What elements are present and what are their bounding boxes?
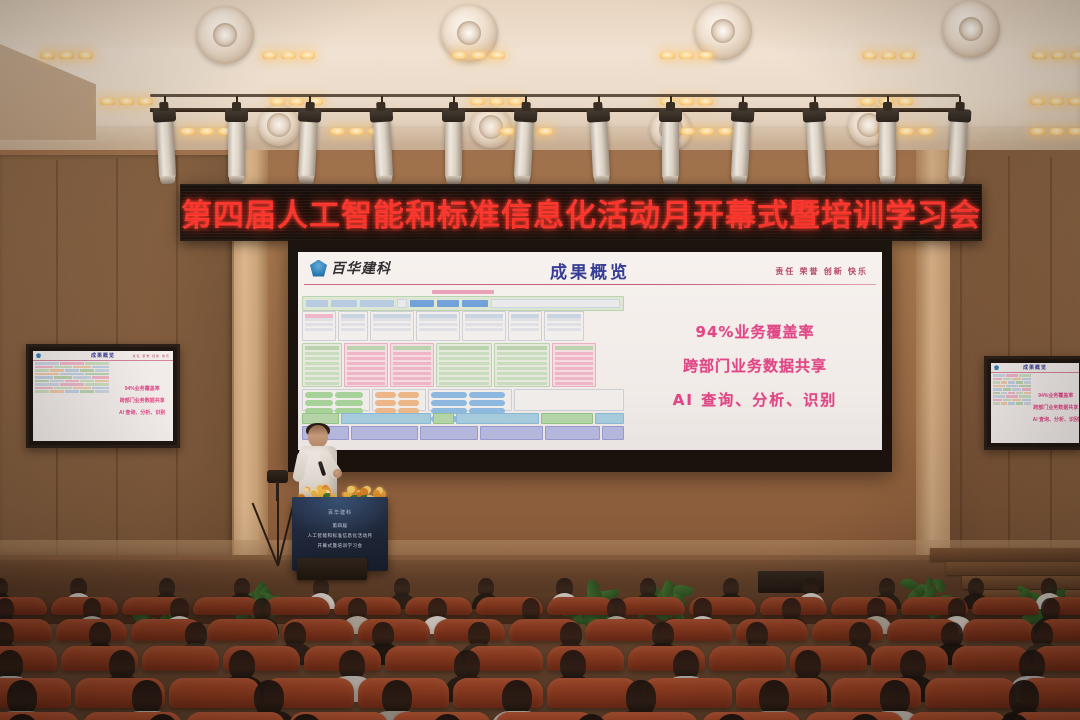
diagram-pill <box>431 400 467 406</box>
ceiling-downlight <box>1030 128 1045 135</box>
monitor-diagram-cell <box>85 383 109 386</box>
ceiling-downlight <box>679 52 694 59</box>
stage-light-lens <box>594 176 609 185</box>
diagram-column-item <box>497 367 547 370</box>
hvac-diffuser <box>942 0 1000 58</box>
monitor-diagram-cell <box>993 388 1002 391</box>
ceiling-downlight <box>1049 128 1064 135</box>
auditorium-seat <box>618 597 685 616</box>
right-monitor-highlights: 94%业务覆盖率 跨部门业务数据共享 AI 查询、分析、识别 <box>1033 372 1079 443</box>
auditorium-seat <box>186 712 285 720</box>
audience-head <box>759 680 789 715</box>
ceiling-downlight <box>1032 52 1047 59</box>
diagram-column-header <box>305 346 339 350</box>
led-banner: 第四届人工智能和标准信息化活动月开幕式暨培训学习会 <box>180 184 982 241</box>
monitor-diagram-row <box>35 383 109 386</box>
monitor-diagram-cell <box>1012 388 1021 391</box>
monitor-diagram-cell <box>1003 378 1012 381</box>
diagram-footer-band <box>420 426 478 440</box>
auditorium-seat <box>142 646 219 671</box>
monitor-diagram-row <box>35 380 109 383</box>
diagram-column-item <box>305 367 339 370</box>
lighting-truss-upper <box>150 94 960 97</box>
diagram-column-item <box>439 377 489 380</box>
podium-line-3: 开幕式暨培训学习会 <box>292 543 388 549</box>
stage-light-clamp <box>232 102 241 111</box>
monitor-diagram-cell <box>73 387 91 390</box>
monitor-diagram-row <box>35 366 109 369</box>
monitor-diagram-cell <box>1019 395 1031 398</box>
monitor-diagram-cell <box>95 390 109 393</box>
diagram-column-item <box>347 372 385 375</box>
monitor-diagram-cell <box>50 369 64 372</box>
diagram-column-header <box>439 346 489 350</box>
diagram-column-item <box>347 357 385 360</box>
diagram-row <box>302 413 624 424</box>
ceiling-downlight <box>918 128 933 135</box>
monitor-diagram-row <box>35 376 109 379</box>
ceiling-downlight <box>40 52 55 59</box>
monitor-diagram-cell <box>1008 381 1015 384</box>
highlight-line-1: 94%业务覆盖率 <box>696 321 815 342</box>
monitor-diagram-cell <box>1001 392 1008 395</box>
ceiling-downlight <box>699 128 714 135</box>
diagram-pill <box>375 392 396 398</box>
diagram-row <box>302 343 624 387</box>
ceiling-downlight <box>698 52 713 59</box>
diagram-pill-group <box>514 389 624 411</box>
audience-head <box>1009 680 1039 715</box>
highlight-line-2: 跨部门业务数据共享 <box>683 355 827 376</box>
right-monitor-screen: 成果概览 94%业务覆盖率 跨部门业务数据共享 AI 查询、分析、识别 <box>991 363 1079 443</box>
diagram-column-item <box>305 352 339 355</box>
diagram-card <box>508 311 542 341</box>
diagram-column-item <box>305 382 339 385</box>
diagram-column-item <box>305 362 339 365</box>
monitor-diagram-cell <box>993 381 1000 384</box>
diagram-column-item <box>347 367 385 370</box>
diagram-column-header <box>347 346 385 350</box>
audience-head <box>254 680 284 715</box>
auditorium-seat <box>585 619 657 641</box>
diagram-column-item <box>555 362 593 365</box>
monitor-diagram-row <box>35 369 109 372</box>
monitor-diagram-cell <box>993 402 1000 405</box>
monitor-diagram-cell <box>993 392 1000 395</box>
monitor-diagram-cell <box>65 380 79 383</box>
monitor-diagram-cell <box>35 380 49 383</box>
monitor-diagram-cell <box>1006 374 1018 377</box>
monitor-diagram-cell <box>35 390 49 393</box>
flower <box>304 488 309 493</box>
monitor-diagram-row <box>993 378 1031 381</box>
diagram-card-item <box>341 318 365 321</box>
ceiling-downlight <box>300 52 315 59</box>
monitor-diagram-cell <box>60 373 84 376</box>
diagram-card-item <box>547 323 581 326</box>
stage-light-lens <box>515 176 530 185</box>
audience-head <box>626 680 656 715</box>
diagram-footer-band <box>456 413 539 424</box>
diagram-column-item <box>439 372 489 375</box>
ceiling-downlight <box>452 52 467 59</box>
monitor-diagram-cell <box>54 376 72 379</box>
diagram-card <box>544 311 584 341</box>
auditorium-seat <box>812 619 884 641</box>
auditorium-seat <box>972 597 1039 616</box>
ceiling-downlight <box>119 98 134 105</box>
diagram-column-item <box>497 352 547 355</box>
monitor-diagram-cell <box>993 395 1005 398</box>
diagram-column-item <box>497 382 547 385</box>
stage-light <box>445 118 462 180</box>
diagram-card-item <box>465 323 503 326</box>
monitor-diagram-row <box>35 390 109 393</box>
diagram-column-item <box>439 362 489 365</box>
diagram-column-item <box>555 352 593 355</box>
diagram-column-item <box>439 382 489 385</box>
audience-area <box>0 576 1080 720</box>
stage-light-lens <box>377 176 392 185</box>
diagram-column-item <box>393 352 431 355</box>
diagram-chip <box>331 300 357 307</box>
monitor-diagram-cell <box>85 362 109 365</box>
monitor-diagram-row <box>993 385 1031 388</box>
podium-line-2: 人工智能和标准信息化活动月 <box>292 533 388 539</box>
diagram-chip <box>360 300 394 307</box>
monitor-diagram-cell <box>80 380 94 383</box>
diagram-top-band <box>302 296 624 311</box>
stage-light-clamp <box>810 102 819 111</box>
monitor-diagram-cell <box>92 366 110 369</box>
right-monitor-diagram <box>991 372 1033 443</box>
diagram-pill <box>335 400 363 406</box>
diagram-column <box>344 343 388 387</box>
audience-head <box>7 680 37 715</box>
diagram-column-item <box>393 367 431 370</box>
monitor-diagram-row <box>993 402 1031 405</box>
diagram-pill <box>398 392 419 398</box>
stage-light-lens <box>446 176 461 184</box>
monitor-diagram-cell <box>1019 385 1031 388</box>
diagram-card <box>462 311 506 341</box>
monitor-diagram-cell <box>1008 402 1015 405</box>
monitor-diagram-cell <box>60 383 84 386</box>
diagram-footer-band <box>545 426 599 440</box>
stage-light-clamp <box>883 102 892 111</box>
diagram-column-item <box>393 377 431 380</box>
monitor-diagram-cell <box>60 362 84 365</box>
diagram-card-item <box>305 328 333 331</box>
diagram-row <box>302 426 624 440</box>
diagram-column-item <box>439 352 489 355</box>
diagram-row <box>302 311 624 341</box>
ceiling-downlight <box>1030 98 1045 105</box>
speaker-right-hand <box>333 469 342 478</box>
diagram-pill <box>375 400 396 406</box>
monitor-diagram-cell <box>95 369 109 372</box>
monitor-diagram-row <box>993 381 1031 384</box>
audience-head <box>132 680 162 715</box>
diagram-footer-band <box>602 426 625 440</box>
monitor-diagram-cell <box>35 387 53 390</box>
slide-header: 百华建科 成果概览 责任 荣誉 创新 快乐 <box>298 252 882 286</box>
diagram-column <box>494 343 550 387</box>
diagram-column-item <box>439 367 489 370</box>
diagram-column-item <box>393 362 431 365</box>
monitor-diagram-cell <box>35 366 53 369</box>
monitor-diagram-cell <box>54 366 72 369</box>
diagram-column <box>302 343 342 387</box>
monitor-diagram-cell <box>80 369 94 372</box>
diagram-card <box>370 311 414 341</box>
ceiling-downlight <box>1068 128 1080 135</box>
seat-row <box>0 597 1080 616</box>
diagram-chip <box>397 299 407 308</box>
hvac-diffuser <box>196 6 254 64</box>
ceiling-downlight <box>138 98 153 105</box>
tripod-leg <box>277 498 279 566</box>
stage-light-clamp <box>522 102 531 111</box>
ceiling-downlight <box>489 98 504 105</box>
stage-light <box>156 118 176 181</box>
diagram-card-item <box>373 318 411 321</box>
diagram-card-item <box>373 323 411 326</box>
monitor-diagram-cell <box>50 380 64 383</box>
monitor-diagram-cell <box>993 374 1005 377</box>
slide-body: 94%业务覆盖率 跨部门业务数据共享 AI 查询、分析、识别 <box>298 286 882 450</box>
monitor-diagram-cell <box>50 390 64 393</box>
ceiling-downlight <box>270 98 285 105</box>
stage-light <box>228 118 245 180</box>
auditorium-seat <box>952 646 1029 671</box>
right-side-monitor: 成果概览 94%业务覆盖率 跨部门业务数据共享 AI 查询、分析、识别 <box>984 356 1080 450</box>
auditorium-seat <box>547 597 614 616</box>
left-monitor-tagline: 责任 荣誉 创新 快乐 <box>132 354 170 358</box>
monitor-diagram-cell <box>1024 381 1031 384</box>
stage-light-lens <box>663 176 678 184</box>
stage-step <box>930 548 1080 561</box>
diagram-column-item <box>347 352 385 355</box>
left-monitor-highlights: 94%业务覆盖率 跨部门业务数据共享 AI 查询、分析、识别 <box>111 360 173 441</box>
diagram-column-header <box>497 346 547 350</box>
diagram-pill <box>469 400 505 406</box>
diagram-column-item <box>439 357 489 360</box>
right-monitor-title: 成果概览 <box>991 364 1079 371</box>
diagram-card-item <box>547 318 581 321</box>
left-monitor-diagram <box>33 360 111 441</box>
monitor-diagram-cell <box>73 366 91 369</box>
left-monitor-line-3: AI 查询、分析、识别 <box>119 409 165 416</box>
diagram-column-item <box>555 382 593 385</box>
ceiling-downlight <box>680 128 695 135</box>
ceiling-downlight <box>199 128 214 135</box>
auditorium-seat <box>599 712 698 720</box>
diagram-column-item <box>555 372 593 375</box>
stage-light <box>662 118 679 180</box>
ceiling-downlight <box>860 98 875 105</box>
diagram-chip <box>410 300 434 307</box>
diagram-pill <box>305 392 333 398</box>
monitor-diagram-row <box>35 373 109 376</box>
monitor-diagram-row <box>993 392 1031 395</box>
diagram-column-item <box>305 372 339 375</box>
diagram-pill <box>398 400 419 406</box>
diagram-card <box>302 311 336 341</box>
stage-light-lens <box>160 176 175 185</box>
ceiling-downlight <box>471 52 486 59</box>
ceiling-downlight <box>1051 52 1066 59</box>
monitor-diagram-cell <box>993 378 1002 381</box>
auditorium-seat <box>264 597 331 616</box>
right-monitor-line-3: AI 查询、分析、识别 <box>1033 416 1079 423</box>
monitor-diagram-row <box>35 387 109 390</box>
stage-light-lens <box>732 176 747 185</box>
diagram-card-item <box>341 323 365 326</box>
auditorium-seat <box>831 597 898 616</box>
stage-light <box>373 118 393 181</box>
diagram-card-item <box>465 318 503 321</box>
auditorium-seat <box>709 646 786 671</box>
ceiling-downlight <box>180 128 195 135</box>
monitor-diagram-cell <box>54 387 72 390</box>
ceiling-downlight <box>899 128 914 135</box>
diagram-column-item <box>393 357 431 360</box>
stage-light <box>731 118 751 181</box>
monitor-diagram-cell <box>35 362 59 365</box>
diagram-footer-band <box>433 413 454 424</box>
ceiling-downlight <box>679 98 694 105</box>
diagram-column-item <box>497 362 547 365</box>
monitor-diagram-row <box>993 399 1031 402</box>
stage-light-clamp <box>593 102 602 111</box>
slide-highlights: 94%业务覆盖率 跨部门业务数据共享 AI 查询、分析、识别 <box>628 286 882 450</box>
stage-light-lens <box>298 176 313 185</box>
monitor-diagram-row <box>993 374 1031 377</box>
ceiling-downlight <box>698 98 713 105</box>
diagram-column-item <box>347 362 385 365</box>
diagram-card <box>416 311 460 341</box>
diagram-column-item <box>393 382 431 385</box>
podium-logo-text: 百华建科 <box>292 509 388 516</box>
monitor-diagram-cell <box>1006 395 1018 398</box>
monitor-diagram-cell <box>1001 381 1008 384</box>
monitor-diagram-cell <box>1008 392 1015 395</box>
diagram-card-item <box>511 318 539 321</box>
diagram-footer-band <box>351 426 418 440</box>
monitor-diagram-cell <box>85 373 109 376</box>
monitor-diagram-cell <box>1016 392 1023 395</box>
diagram-card-item <box>465 328 503 331</box>
diagram-chip <box>491 299 620 308</box>
stage-light-lens <box>880 176 895 184</box>
monitor-diagram-cell <box>1003 388 1012 391</box>
ceiling-downlight <box>59 52 74 59</box>
diagram-column-item <box>393 372 431 375</box>
monitor-diagram-cell <box>1012 399 1021 402</box>
ceiling-downlight <box>862 52 877 59</box>
ceiling-downlight <box>1068 98 1080 105</box>
stage-light-lens <box>810 176 825 185</box>
diagram-pill <box>305 400 333 406</box>
auditorium-seat <box>207 619 279 641</box>
diagram-footer-band <box>541 413 593 424</box>
monitor-diagram-cell <box>1003 399 1012 402</box>
diagram-card-item <box>341 328 365 331</box>
left-side-monitor: 成果概览 责任 荣誉 创新 快乐 94%业务覆盖率 跨部门业务数据共享 AI 查… <box>26 344 180 448</box>
diagram-column-item <box>497 357 547 360</box>
audience-head <box>502 680 532 715</box>
stage-light-clamp <box>666 102 675 111</box>
ceiling-downlight <box>881 52 896 59</box>
stage-light-lens <box>949 176 964 185</box>
stage-light <box>948 118 968 181</box>
podium-line-1: 第四届 <box>292 523 388 529</box>
auditorium-seat <box>963 619 1035 641</box>
monitor-diagram-row <box>993 395 1031 398</box>
monitor-diagram-cell <box>1006 385 1018 388</box>
monitor-diagram-cell <box>95 380 109 383</box>
left-monitor-body: 94%业务覆盖率 跨部门业务数据共享 AI 查询、分析、识别 <box>33 360 173 441</box>
speaker-head <box>308 425 328 448</box>
diagram-card <box>338 311 368 341</box>
monitor-diagram-cell <box>35 369 49 372</box>
architecture-diagram <box>298 286 628 450</box>
monitor-diagram-cell <box>73 376 91 379</box>
diagram-pill-group <box>372 389 426 411</box>
ceiling-downlight <box>490 52 505 59</box>
diagram-column-item <box>555 367 593 370</box>
stage-light-clamp <box>955 102 964 111</box>
stage-light <box>879 118 896 180</box>
monitor-diagram-cell <box>993 385 1005 388</box>
right-monitor-body: 94%业务覆盖率 跨部门业务数据共享 AI 查询、分析、识别 <box>991 372 1079 443</box>
lighting-truss <box>150 108 960 112</box>
stage-light-clamp <box>449 102 458 111</box>
auditorium-seat <box>925 678 1016 708</box>
monitor-diagram-cell <box>35 383 59 386</box>
diagram-column-item <box>497 377 547 380</box>
diagram-card-item <box>547 328 581 331</box>
stage-light-clamp <box>159 102 168 111</box>
monitor-diagram-cell <box>92 387 110 390</box>
diagram-column-item <box>347 377 385 380</box>
diagram-column-item <box>497 372 547 375</box>
diagram-column-item <box>305 357 339 360</box>
monitor-diagram-cell <box>1016 381 1023 384</box>
monitor-diagram-cell <box>80 390 94 393</box>
diagram-footer-band <box>341 413 431 424</box>
diagram-card-item <box>419 323 457 326</box>
monitor-diagram-cell <box>1016 402 1023 405</box>
diagram-column <box>436 343 492 387</box>
monitor-diagram-cell <box>65 369 79 372</box>
diagram-column <box>390 343 434 387</box>
left-monitor-line-1: 94%业务覆盖率 <box>125 385 160 392</box>
auditorium-seat <box>547 678 638 708</box>
diagram-column-header <box>555 346 593 350</box>
diagram-pill-row <box>375 392 423 414</box>
monitor-diagram-cell <box>1012 378 1021 381</box>
diagram-pill-row <box>305 392 367 414</box>
monitor-diagram-cell <box>1022 378 1031 381</box>
ceiling-downlight <box>349 128 364 135</box>
ceiling-downlight <box>100 98 115 105</box>
diagram-footer-band <box>480 426 543 440</box>
right-monitor-line-1: 94%业务覆盖率 <box>1038 392 1073 399</box>
diagram-pill-group <box>302 389 370 411</box>
monitor-diagram-cell <box>35 376 53 379</box>
